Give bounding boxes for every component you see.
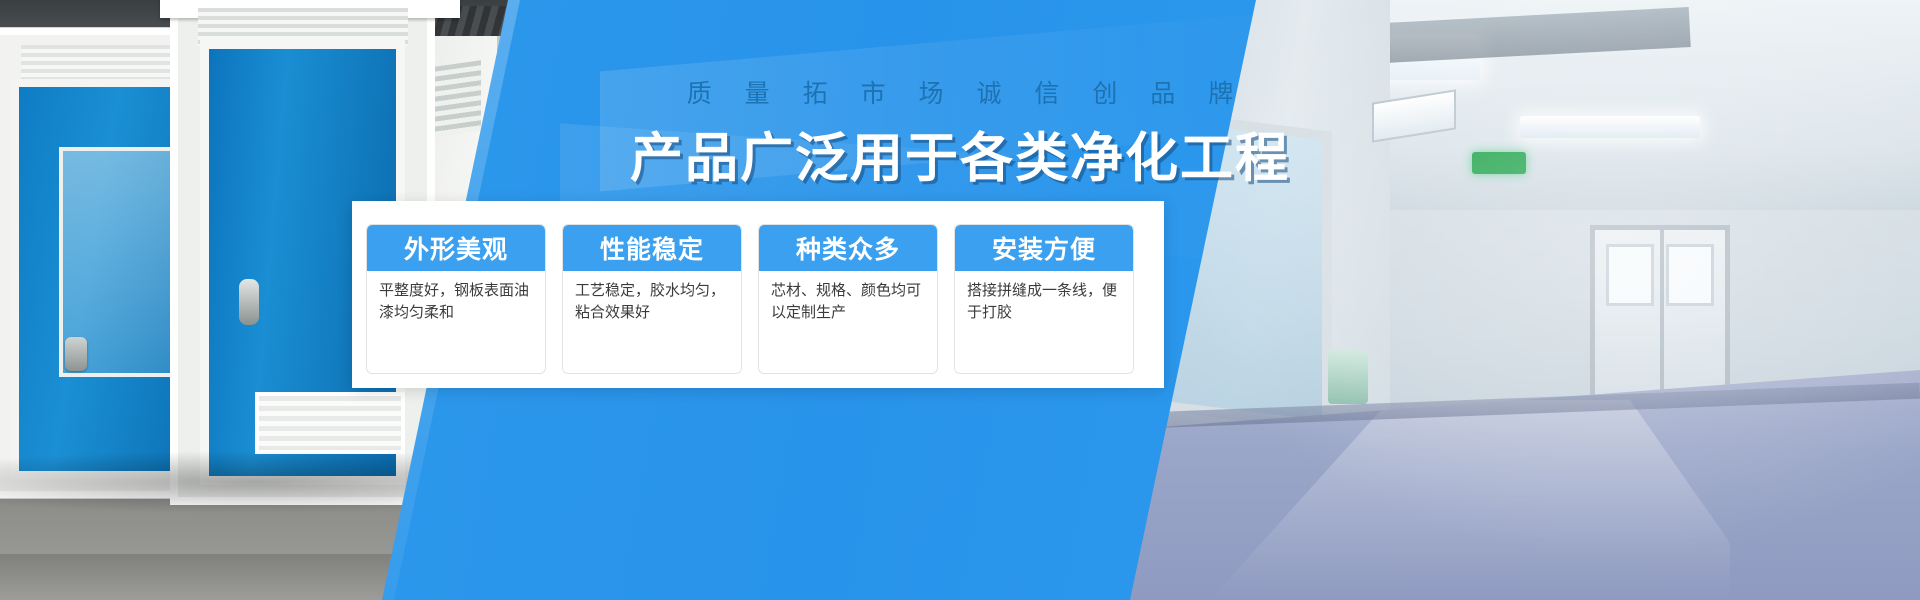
feature-card-3[interactable]: 种类众多 芯材、规格、颜色均可以定制生产 [758, 224, 938, 374]
feature-card-4[interactable]: 安装方便 搭接拼缝成一条线，便于打胶 [954, 224, 1134, 374]
cabin-door-louver [255, 392, 405, 454]
banner-headline: 产品广泛用于各类净化工程 [0, 116, 1920, 192]
feature-card-list: 外形美观 平整度好，钢板表面油漆均匀柔和 性能稳定 工艺稳定，胶水均匀，粘合效果… [366, 224, 1152, 374]
cabin-door-lock-icon [65, 337, 87, 371]
feature-card-1[interactable]: 外形美观 平整度好，钢板表面油漆均匀柔和 [366, 224, 546, 374]
feature-card-2[interactable]: 性能稳定 工艺稳定，胶水均匀，粘合效果好 [562, 224, 742, 374]
feature-card-title: 外形美观 [367, 225, 545, 271]
promo-banner: 质 量 拓 市 场 诚 信 创 品 牌 产品广泛用于各类净化工程 外形美观 平整… [0, 0, 1920, 600]
feature-card-title: 性能稳定 [563, 225, 741, 271]
feature-card-title: 种类众多 [759, 225, 937, 271]
feature-card-body: 工艺稳定，胶水均匀，粘合效果好 [563, 271, 741, 373]
banner-tagline: 质 量 拓 市 场 诚 信 创 品 牌 [0, 74, 1920, 110]
cabin-door-handle-icon [239, 279, 259, 325]
feature-card-title: 安装方便 [955, 225, 1133, 271]
feature-card-body: 芯材、规格、颜色均可以定制生产 [759, 271, 937, 373]
feature-card-body: 平整度好，钢板表面油漆均匀柔和 [367, 271, 545, 373]
feature-card-body: 搭接拼缝成一条线，便于打胶 [955, 271, 1133, 373]
